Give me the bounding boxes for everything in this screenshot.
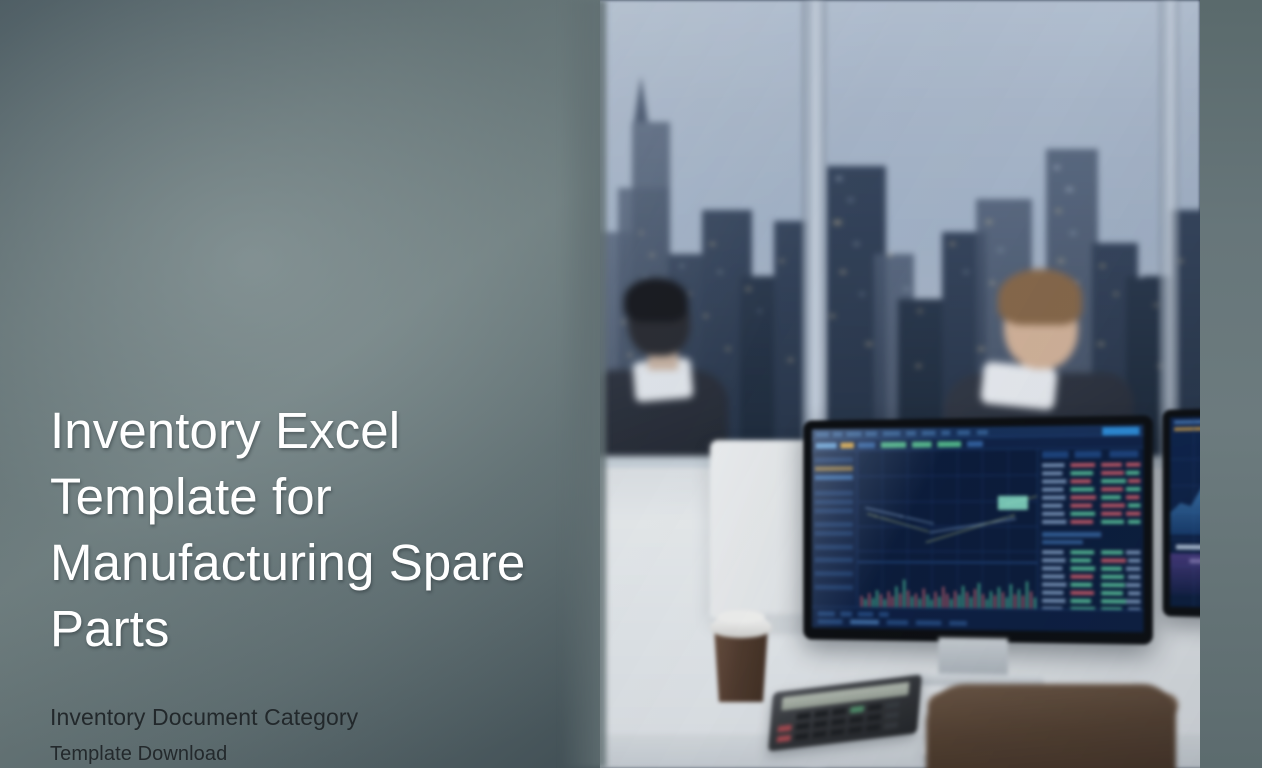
- trading-terminal-screen: [812, 425, 1144, 633]
- photo-blur-layer: [598, 0, 1200, 768]
- document-category-label: Inventory Document Category: [50, 702, 570, 732]
- market-depth-panel: [1037, 448, 1144, 610]
- terminal-status-bar: [812, 606, 1144, 632]
- hero-photo: [598, 0, 1200, 768]
- trading-terminal-monitor: [803, 415, 1153, 644]
- candlestick-chart: [858, 449, 1037, 608]
- page-title: Inventory Excel Template for Manufacturi…: [50, 398, 570, 662]
- second-monitor: [1163, 406, 1200, 620]
- template-download-label: Template Download: [50, 741, 570, 767]
- terminal-active-tab: [1102, 427, 1139, 436]
- slide-canvas: Inventory Excel Template for Manufacturi…: [0, 0, 1262, 768]
- monitor-stand: [938, 637, 1007, 678]
- leather-chair: [926, 684, 1176, 768]
- second-monitor-screen: [1170, 414, 1200, 609]
- title-text-block: Inventory Excel Template for Manufacturi…: [50, 398, 570, 767]
- right-accent-band: [1200, 0, 1262, 768]
- terminal-watchlist-panel: [812, 451, 858, 606]
- coffee-cup: [710, 606, 772, 702]
